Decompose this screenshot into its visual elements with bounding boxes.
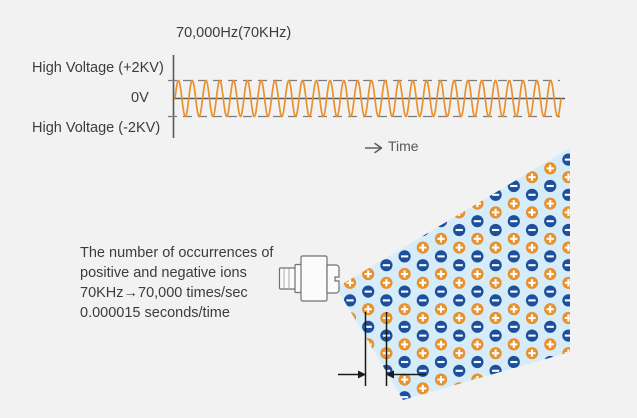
dimension-arrows-icon (0, 0, 637, 418)
diagram-canvas: 70,000Hz(70KHz) High Voltage (+2KV) 0V H… (0, 0, 637, 418)
